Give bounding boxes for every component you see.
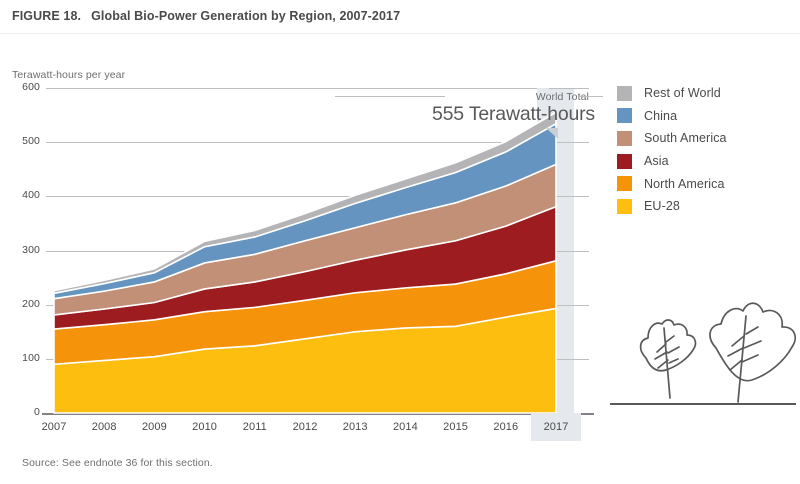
legend-item-label: South America [644, 131, 727, 145]
x-axis-tick-label-2015: 2015 [431, 413, 481, 441]
x-axis-tick-label-2014: 2014 [380, 413, 430, 441]
y-axis-tick-label: 100 [6, 352, 40, 364]
legend-item-label: China [644, 109, 677, 123]
y-axis-tick-label: 600 [6, 81, 40, 93]
x-axis-tick-labels: 2007200820092010201120122013201420152016… [46, 413, 598, 441]
y-axis-tick-label: 300 [6, 244, 40, 256]
legend-item-south-america[interactable]: South America [617, 127, 792, 150]
legend-swatch-icon [617, 131, 632, 146]
leaf-decoration [608, 300, 798, 410]
legend-swatch-icon [617, 154, 632, 169]
chart-plot-area [46, 88, 598, 413]
source-note: Source: See endnote 36 for this section. [22, 457, 213, 469]
page-title: Global Bio-Power Generation by Region, 2… [91, 9, 400, 23]
world-total-label: World Total [536, 91, 595, 103]
legend-swatch-icon [617, 86, 632, 101]
x-axis-tick-label-2010: 2010 [180, 413, 230, 441]
legend-item-eu-28[interactable]: EU-28 [617, 195, 792, 218]
figure-header: FIGURE 18. Global Bio-Power Generation b… [12, 9, 400, 23]
legend-swatch-icon [617, 199, 632, 214]
annotation-leader-line [335, 96, 445, 97]
legend-item-label: EU-28 [644, 199, 680, 213]
legend-item-rest-of-world[interactable]: Rest of World [617, 82, 792, 105]
annotation-pointer-icon [546, 128, 558, 139]
leaf-icon-large [710, 303, 795, 402]
legend-swatch-icon [617, 108, 632, 123]
x-axis-tick-label-2012: 2012 [280, 413, 330, 441]
x-axis-tick-label-2013: 2013 [330, 413, 380, 441]
y-axis-title: Terawatt-hours per year [12, 69, 125, 81]
leaf-icon-small [641, 320, 696, 398]
y-axis-tick-label: 400 [6, 189, 40, 201]
legend-item-china[interactable]: China [617, 105, 792, 128]
legend-item-label: Asia [644, 154, 669, 168]
x-axis-tick-label-2016: 2016 [481, 413, 531, 441]
x-axis-tick-label-2011: 2011 [230, 413, 280, 441]
x-axis-tick-label-2008: 2008 [79, 413, 129, 441]
y-axis-tick-labels: 0100200300400500600 [0, 88, 40, 413]
annotation-leader-line-right [579, 96, 603, 97]
legend-item-label: Rest of World [644, 86, 721, 100]
world-total-value: 555 Terawatt-hours [370, 103, 595, 126]
chart-legend: Rest of WorldChinaSouth AmericaAsiaNorth… [617, 82, 792, 218]
y-axis-tick-label: 200 [6, 298, 40, 310]
y-axis-tick-label: 500 [6, 135, 40, 147]
x-axis-tick-label-2009: 2009 [129, 413, 179, 441]
x-axis-tick-label-2017: 2017 [531, 413, 581, 441]
stacked-area-chart [46, 88, 598, 413]
header-divider [0, 33, 800, 34]
x-axis-tick-label-2007: 2007 [29, 413, 79, 441]
legend-item-asia[interactable]: Asia [617, 150, 792, 173]
figure-number: FIGURE 18. [12, 9, 81, 23]
legend-item-label: North America [644, 177, 725, 191]
legend-swatch-icon [617, 176, 632, 191]
legend-item-north-america[interactable]: North America [617, 172, 792, 195]
